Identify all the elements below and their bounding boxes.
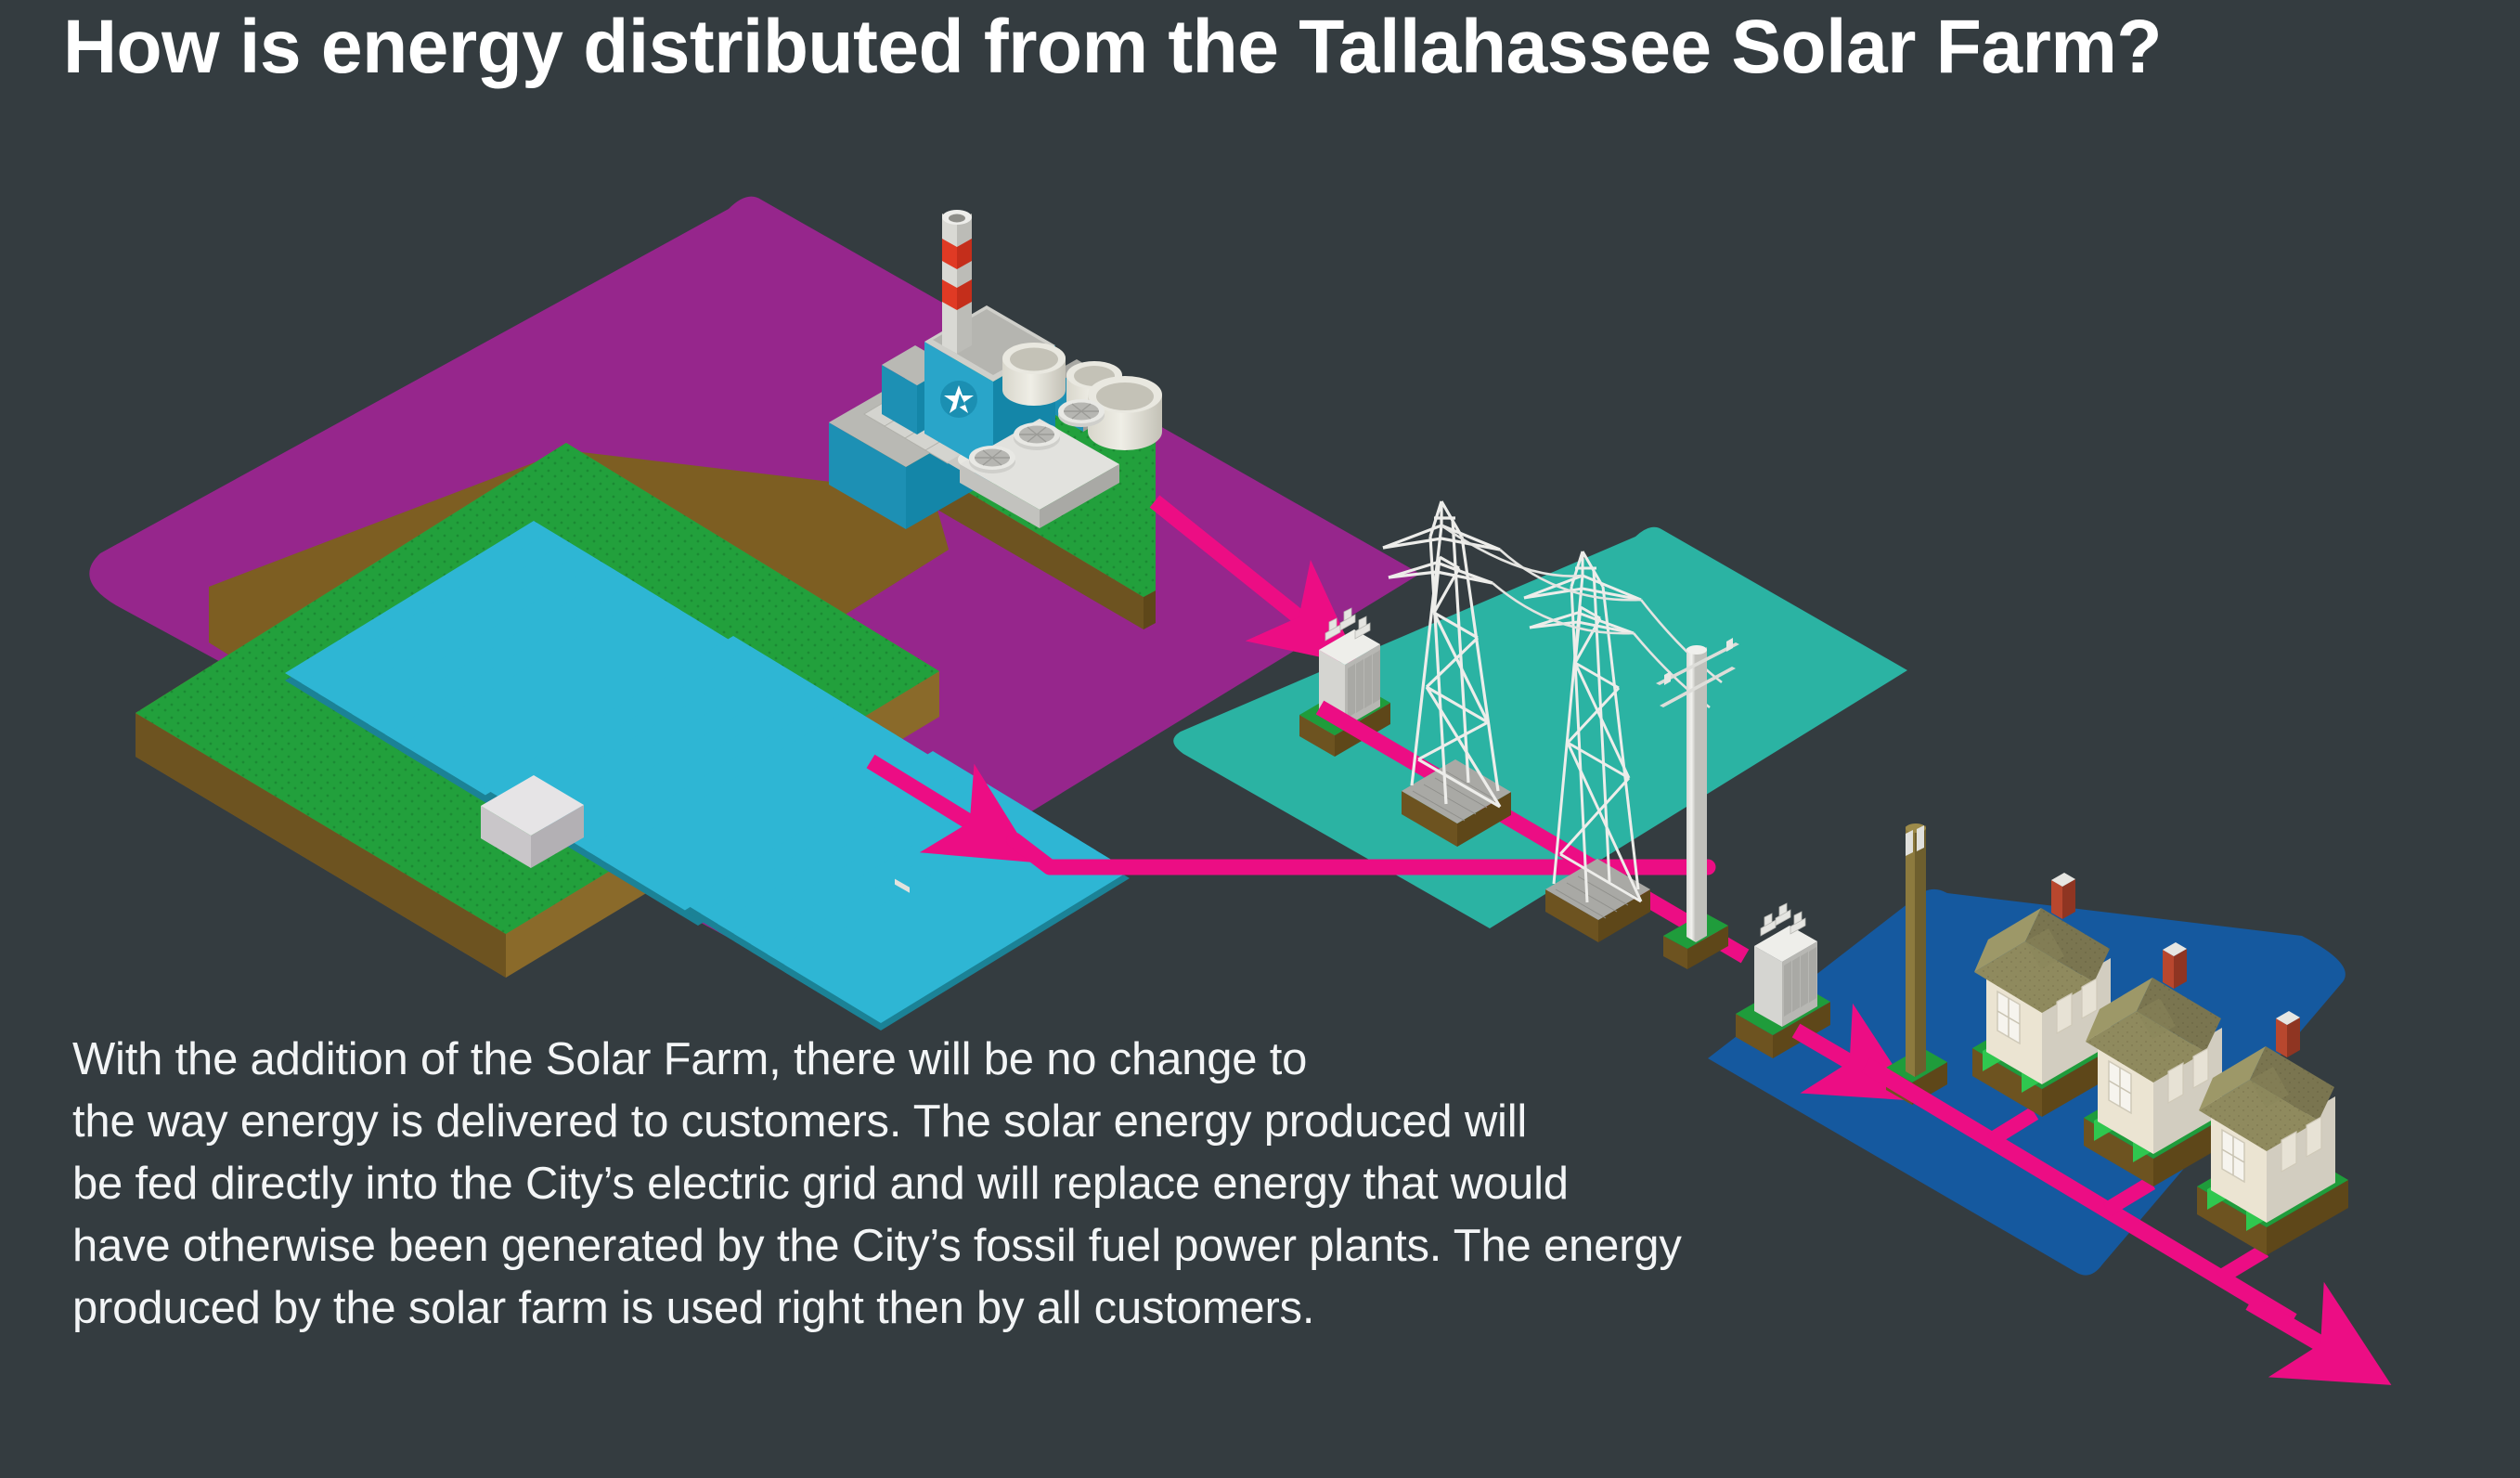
smokestack [942, 210, 972, 354]
infographic-canvas: How is energy distributed from the Talla… [0, 0, 2520, 1478]
body-line-3: be fed directly into the City’s electric… [72, 1153, 1892, 1215]
body-line-4: have otherwise been generated by the Cit… [72, 1215, 1892, 1277]
body-line-2: the way energy is delivered to customers… [72, 1091, 1892, 1153]
body-line-1: With the addition of the Solar Farm, the… [72, 1029, 1892, 1091]
body-copy: With the addition of the Solar Farm, the… [72, 1029, 1892, 1340]
body-line-5: produced by the solar farm is used right… [72, 1277, 1892, 1340]
